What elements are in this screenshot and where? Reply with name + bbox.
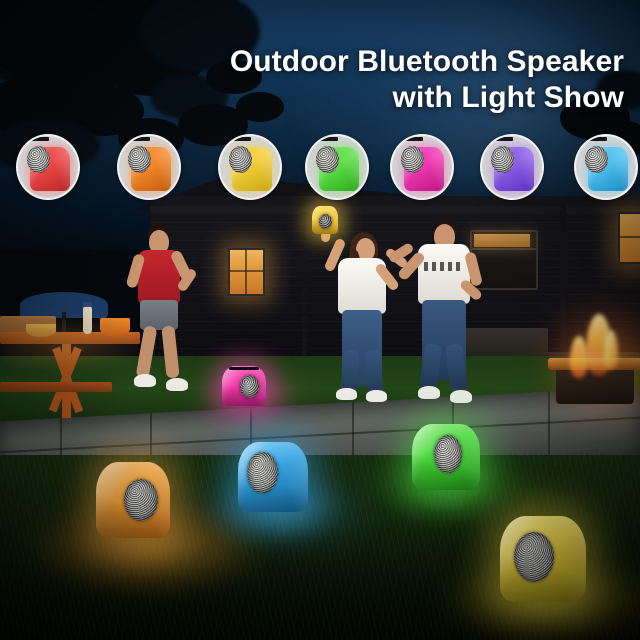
swatch-solar-magenta (401, 137, 423, 141)
color-swatch-purple[interactable] (480, 134, 544, 200)
title-line-1: Outdoor Bluetooth Speaker (104, 44, 624, 80)
speaker-magenta-solar (229, 367, 259, 370)
color-swatch-red[interactable] (16, 134, 80, 200)
swatch-grille-cyan (585, 146, 608, 173)
woman-shoe-left (336, 388, 357, 400)
product-image: Outdoor Bluetooth Speaker with Light Sho… (0, 0, 640, 640)
speaker-lawn-magenta (222, 366, 266, 406)
color-swatch-magenta[interactable] (390, 134, 454, 200)
man-red-shoe-left (134, 374, 156, 387)
stone-step (456, 328, 548, 358)
swatch-solar-yellow (229, 137, 251, 141)
swatch-solar-cyan (585, 137, 607, 141)
speaker-magenta-grille (240, 375, 259, 398)
speaker-blue-grille (247, 452, 278, 493)
man-red-shoe-right (166, 378, 188, 391)
swatch-solar-purple (491, 137, 513, 141)
swatch-solar-green (316, 137, 338, 141)
title-line-2: with Light Show (104, 80, 624, 116)
swatch-solar-red (27, 137, 49, 141)
cabin-window-lit-right (618, 212, 640, 264)
speaker-front-orange (96, 462, 170, 538)
cabin-eave (150, 206, 640, 213)
woman-shoe-right (366, 390, 387, 402)
color-swatch-orange[interactable] (117, 134, 181, 200)
color-swatch-yellow[interactable] (218, 134, 282, 200)
speaker-held-yellow (312, 206, 338, 234)
woman-leg-right (364, 349, 383, 394)
cabin-window-middle-glow (474, 234, 530, 247)
bottle-cap (83, 302, 92, 307)
swatch-grille-red (27, 146, 50, 173)
speaker-front-blue (238, 442, 308, 512)
man-white-shirt (418, 244, 470, 304)
man-white-shirt-graphic (424, 262, 464, 271)
swatch-grille-orange (128, 146, 151, 173)
man-white-shoe-left (418, 386, 440, 399)
speaker-green-grille (434, 435, 462, 473)
table-warm-glow (0, 316, 150, 366)
man-red-shorts (140, 300, 178, 330)
speaker-orange-grille (124, 479, 158, 521)
swatch-grille-green (316, 146, 339, 173)
color-swatch-cyan[interactable] (574, 134, 638, 200)
swatch-grille-magenta (401, 146, 424, 173)
table-bench (0, 382, 112, 392)
speaker-front-green (412, 424, 480, 490)
speaker-held-grille (319, 214, 332, 229)
speaker-front-yellow (500, 516, 586, 602)
swatch-grille-purple (491, 146, 514, 173)
swatch-solar-orange (128, 137, 150, 141)
man-white-shoe-right (450, 390, 472, 403)
swatch-grille-yellow (229, 146, 252, 173)
color-swatch-row (0, 134, 640, 204)
cabin-window-lit-left (228, 248, 265, 296)
speaker-yellow-grille (514, 532, 554, 582)
color-swatch-green[interactable] (305, 134, 369, 200)
page-title: Outdoor Bluetooth Speaker with Light Sho… (104, 44, 624, 116)
